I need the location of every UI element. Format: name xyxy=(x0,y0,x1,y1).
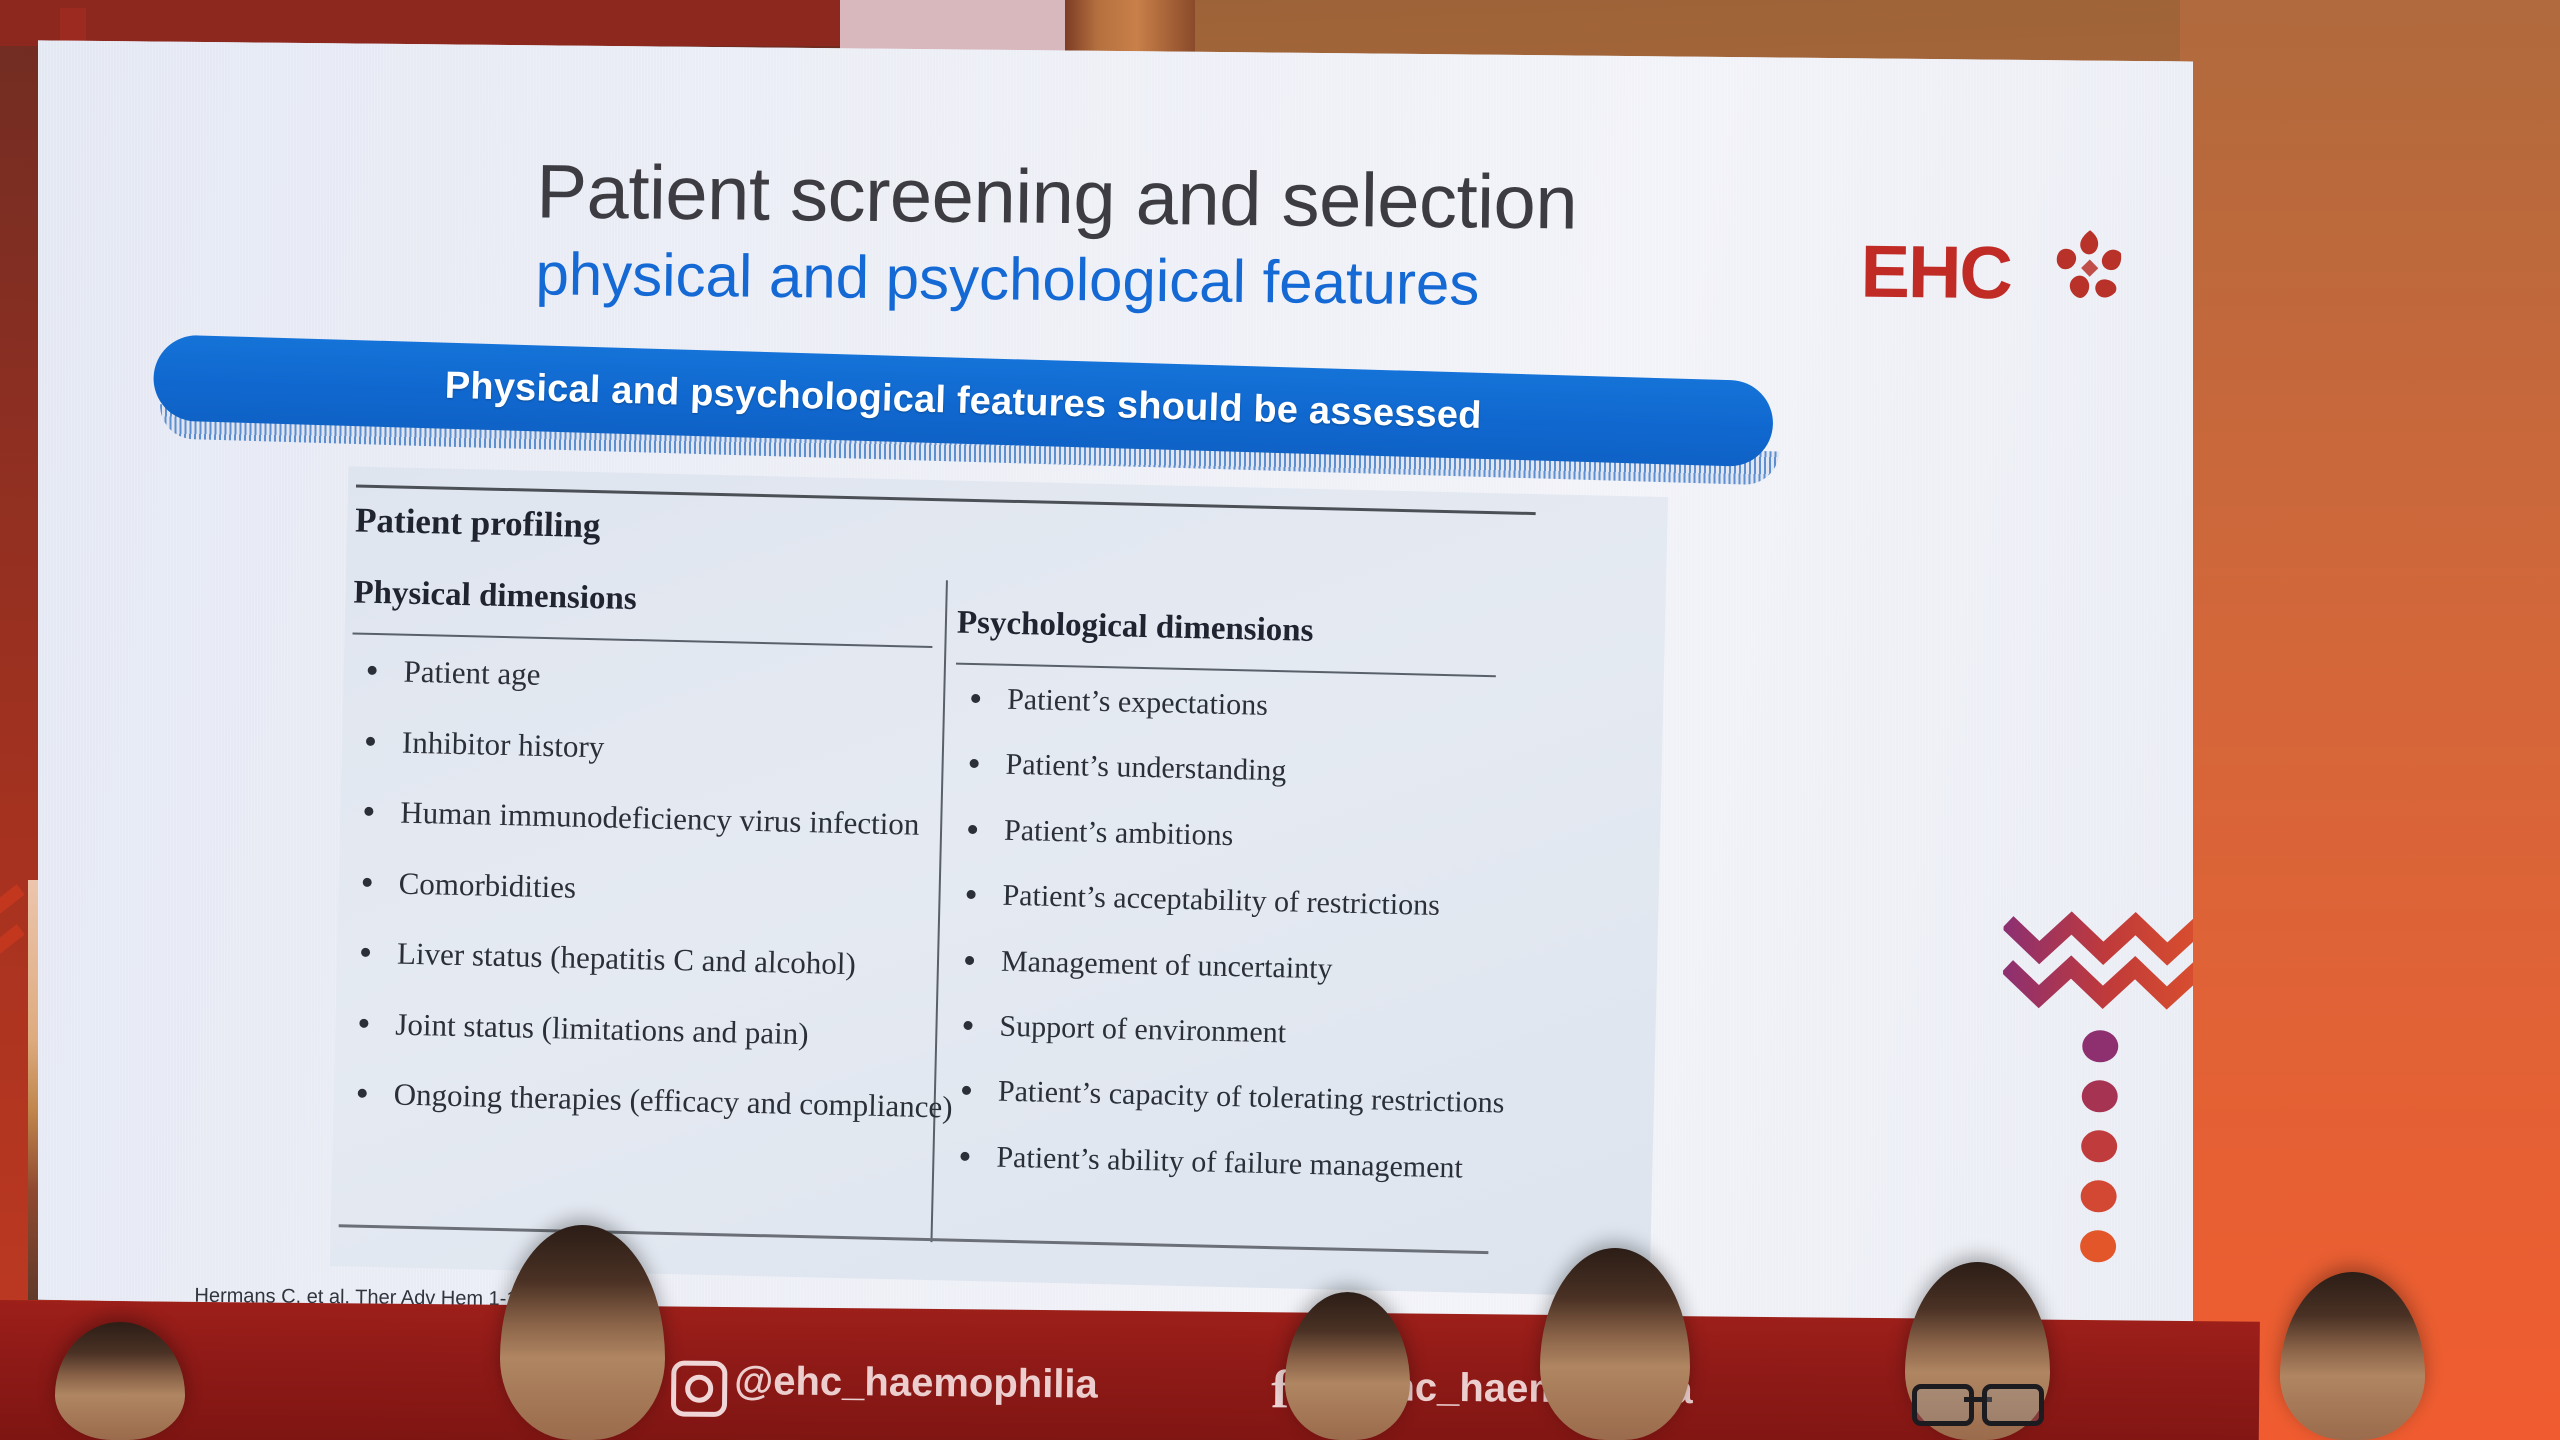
vertical-dot-decoration xyxy=(2080,1030,2123,1290)
slide-subtitle: physical and psychological features xyxy=(535,243,1856,318)
list-item: Patient’s ability of failure management xyxy=(950,1138,1511,1186)
patient-profiling-table: Patient profiling Physical dimensions Ps… xyxy=(330,466,1668,1297)
projection-screen: Patient screening and selection physical… xyxy=(38,14,2193,1334)
photo-of-conference-room: Patient screening and selection physical… xyxy=(0,0,2560,1440)
column-header-physical: Physical dimensions xyxy=(353,574,637,618)
instagram-icon xyxy=(671,1360,728,1417)
presentation-slide: Patient screening and selection physical… xyxy=(124,44,2198,1336)
psychological-dimensions-list: Patient’s expectations Patient’s underst… xyxy=(949,681,1521,1217)
table-title: Patient profiling xyxy=(355,500,601,546)
list-item: Patient’s understanding xyxy=(959,746,1520,794)
list-item: Patient’s acceptability of restrictions xyxy=(956,877,1517,925)
list-item: Management of uncertainty xyxy=(955,942,1516,990)
list-item: Patient age xyxy=(357,653,938,703)
header-rule-left xyxy=(353,632,933,648)
list-item: Liver status (hepatitis C and alcohol) xyxy=(351,935,932,985)
list-item: Patient’s capacity of tolerating restric… xyxy=(952,1073,1513,1121)
header-rule-right xyxy=(956,663,1496,678)
list-item: Patient’s expectations xyxy=(961,681,1522,729)
list-item: Ongoing therapies (efficacy and complian… xyxy=(347,1076,928,1126)
list-item: Support of environment xyxy=(953,1008,1514,1056)
circle-of-people-emblem xyxy=(2046,225,2133,312)
ehc-wordmark: EHC xyxy=(1860,229,2011,316)
table-bottom-rule xyxy=(339,1224,1489,1254)
list-item: Patient’s ambitions xyxy=(958,811,1519,859)
instagram-handle: @ehc_haemophilia xyxy=(734,1359,1098,1407)
chevron-decoration-left xyxy=(0,910,40,990)
blue-banner: Physical and psychological features shou… xyxy=(154,334,1775,472)
list-item: Comorbidities xyxy=(352,864,933,914)
physical-dimensions-list: Patient age Inhibitor history Human immu… xyxy=(347,653,938,1160)
slide-title: Patient screening and selection xyxy=(536,153,1857,245)
eyeglasses-icon xyxy=(1912,1384,2044,1418)
list-item: Joint status (limitations and pain) xyxy=(349,1005,930,1055)
ehc-logo: EHC xyxy=(1860,223,2131,336)
list-item: Human immunodeficiency virus infection xyxy=(354,794,935,844)
list-item: Inhibitor history xyxy=(356,723,937,773)
column-header-psychological: Psychological dimensions xyxy=(957,605,1314,650)
room-wall-far-right xyxy=(2180,0,2560,1440)
